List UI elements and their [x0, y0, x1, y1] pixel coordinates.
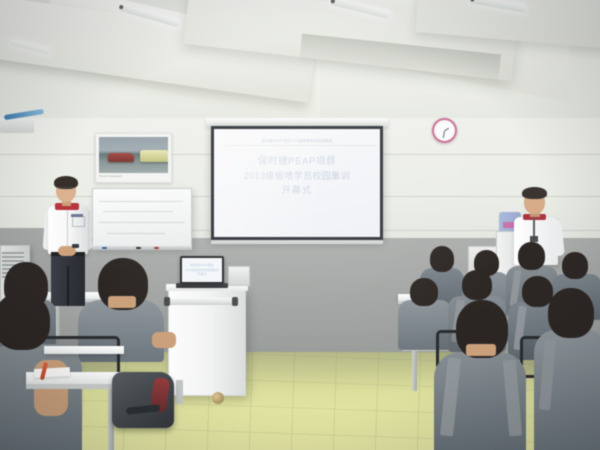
ceiling: [0, 0, 600, 132]
student-head: [430, 246, 454, 272]
student-head: [562, 252, 588, 279]
table-leg: [412, 351, 417, 391]
lectern-handle-bar: [166, 298, 236, 305]
table-leg: [56, 302, 60, 336]
laptop-display-text: 保时捷PEAP项目 2013级钣喷学员校园集训 开幕式: [182, 263, 222, 277]
lanyard-cord: [533, 218, 535, 238]
student-head: [462, 270, 492, 300]
student-head: [548, 288, 594, 338]
presenter-right-arm: [550, 220, 565, 257]
student-arm: [152, 332, 176, 348]
marker-black: [136, 247, 141, 249]
wristwatch: [72, 244, 79, 248]
slide-header-text: 保时捷PEAP项目2013级钣喷学员校园集训: [214, 138, 380, 143]
laptop-line-3: 开幕式: [182, 272, 222, 277]
slide-line-3: 开幕式: [214, 184, 380, 198]
marker-blue: [102, 247, 107, 249]
notepaper: [34, 367, 70, 378]
student-neck: [108, 296, 136, 308]
slide-divider-rule: [224, 145, 376, 146]
clock-face: [436, 122, 453, 139]
wall-ac-unit: [0, 118, 34, 133]
presenter-right-hair: [522, 187, 547, 199]
poster-caption: Porsche Motorsport: [99, 175, 168, 178]
student-neck: [466, 344, 496, 356]
slide-body: 保时捷PEAP项目 2013级钣喷学员校园集训 开幕式: [214, 155, 380, 198]
whiteboard: [92, 188, 192, 248]
screen-bottom-bar: [211, 240, 383, 244]
whiteboard-marker-tray: [92, 246, 192, 250]
trouser-seam: [67, 266, 69, 306]
pocket-badge: [71, 214, 83, 217]
shirt-pocket: [72, 216, 85, 227]
printer-device: [228, 266, 250, 286]
poster-car-yellow: [140, 150, 168, 162]
poster-car-red: [108, 153, 134, 162]
student-head: [410, 278, 438, 306]
slide-line-2: 2013级钣喷学员校园集训: [214, 170, 380, 184]
student-head: [522, 276, 553, 307]
laptop-display: 保时捷PEAP项目 2013级钣喷学员校园集训 开幕式: [182, 258, 222, 282]
projection-screen-surface: 保时捷PEAP项目2013级钣喷学员校园集训 保时捷PEAP项目 2013级钣喷…: [214, 129, 380, 237]
lectern-leg: [176, 380, 183, 404]
clock-minute-hand: [443, 131, 445, 138]
classroom-photo: Porsche Motorsport 保时捷PEAP项目2013级钣喷学员校园集…: [0, 0, 600, 450]
presenter-laptop: 保时捷PEAP项目 2013级钣喷学员校园集训 开幕式: [180, 256, 224, 284]
lectern-caster-wheel: [212, 392, 224, 404]
marker-red: [154, 247, 159, 249]
framed-racing-poster: Porsche Motorsport: [95, 133, 172, 183]
poster-image: [99, 137, 168, 173]
glasses-icon: [57, 187, 75, 192]
student-head: [518, 242, 545, 270]
slide-line-1: 保时捷PEAP项目: [214, 155, 380, 170]
projection-screen: 保时捷PEAP项目2013级钣喷学员校园集训 保时捷PEAP项目 2013级钣喷…: [211, 126, 383, 240]
table-row: [44, 346, 124, 354]
student-head: [0, 292, 50, 350]
clock-hour-hand: [444, 128, 449, 132]
wall-clock: [432, 118, 457, 143]
